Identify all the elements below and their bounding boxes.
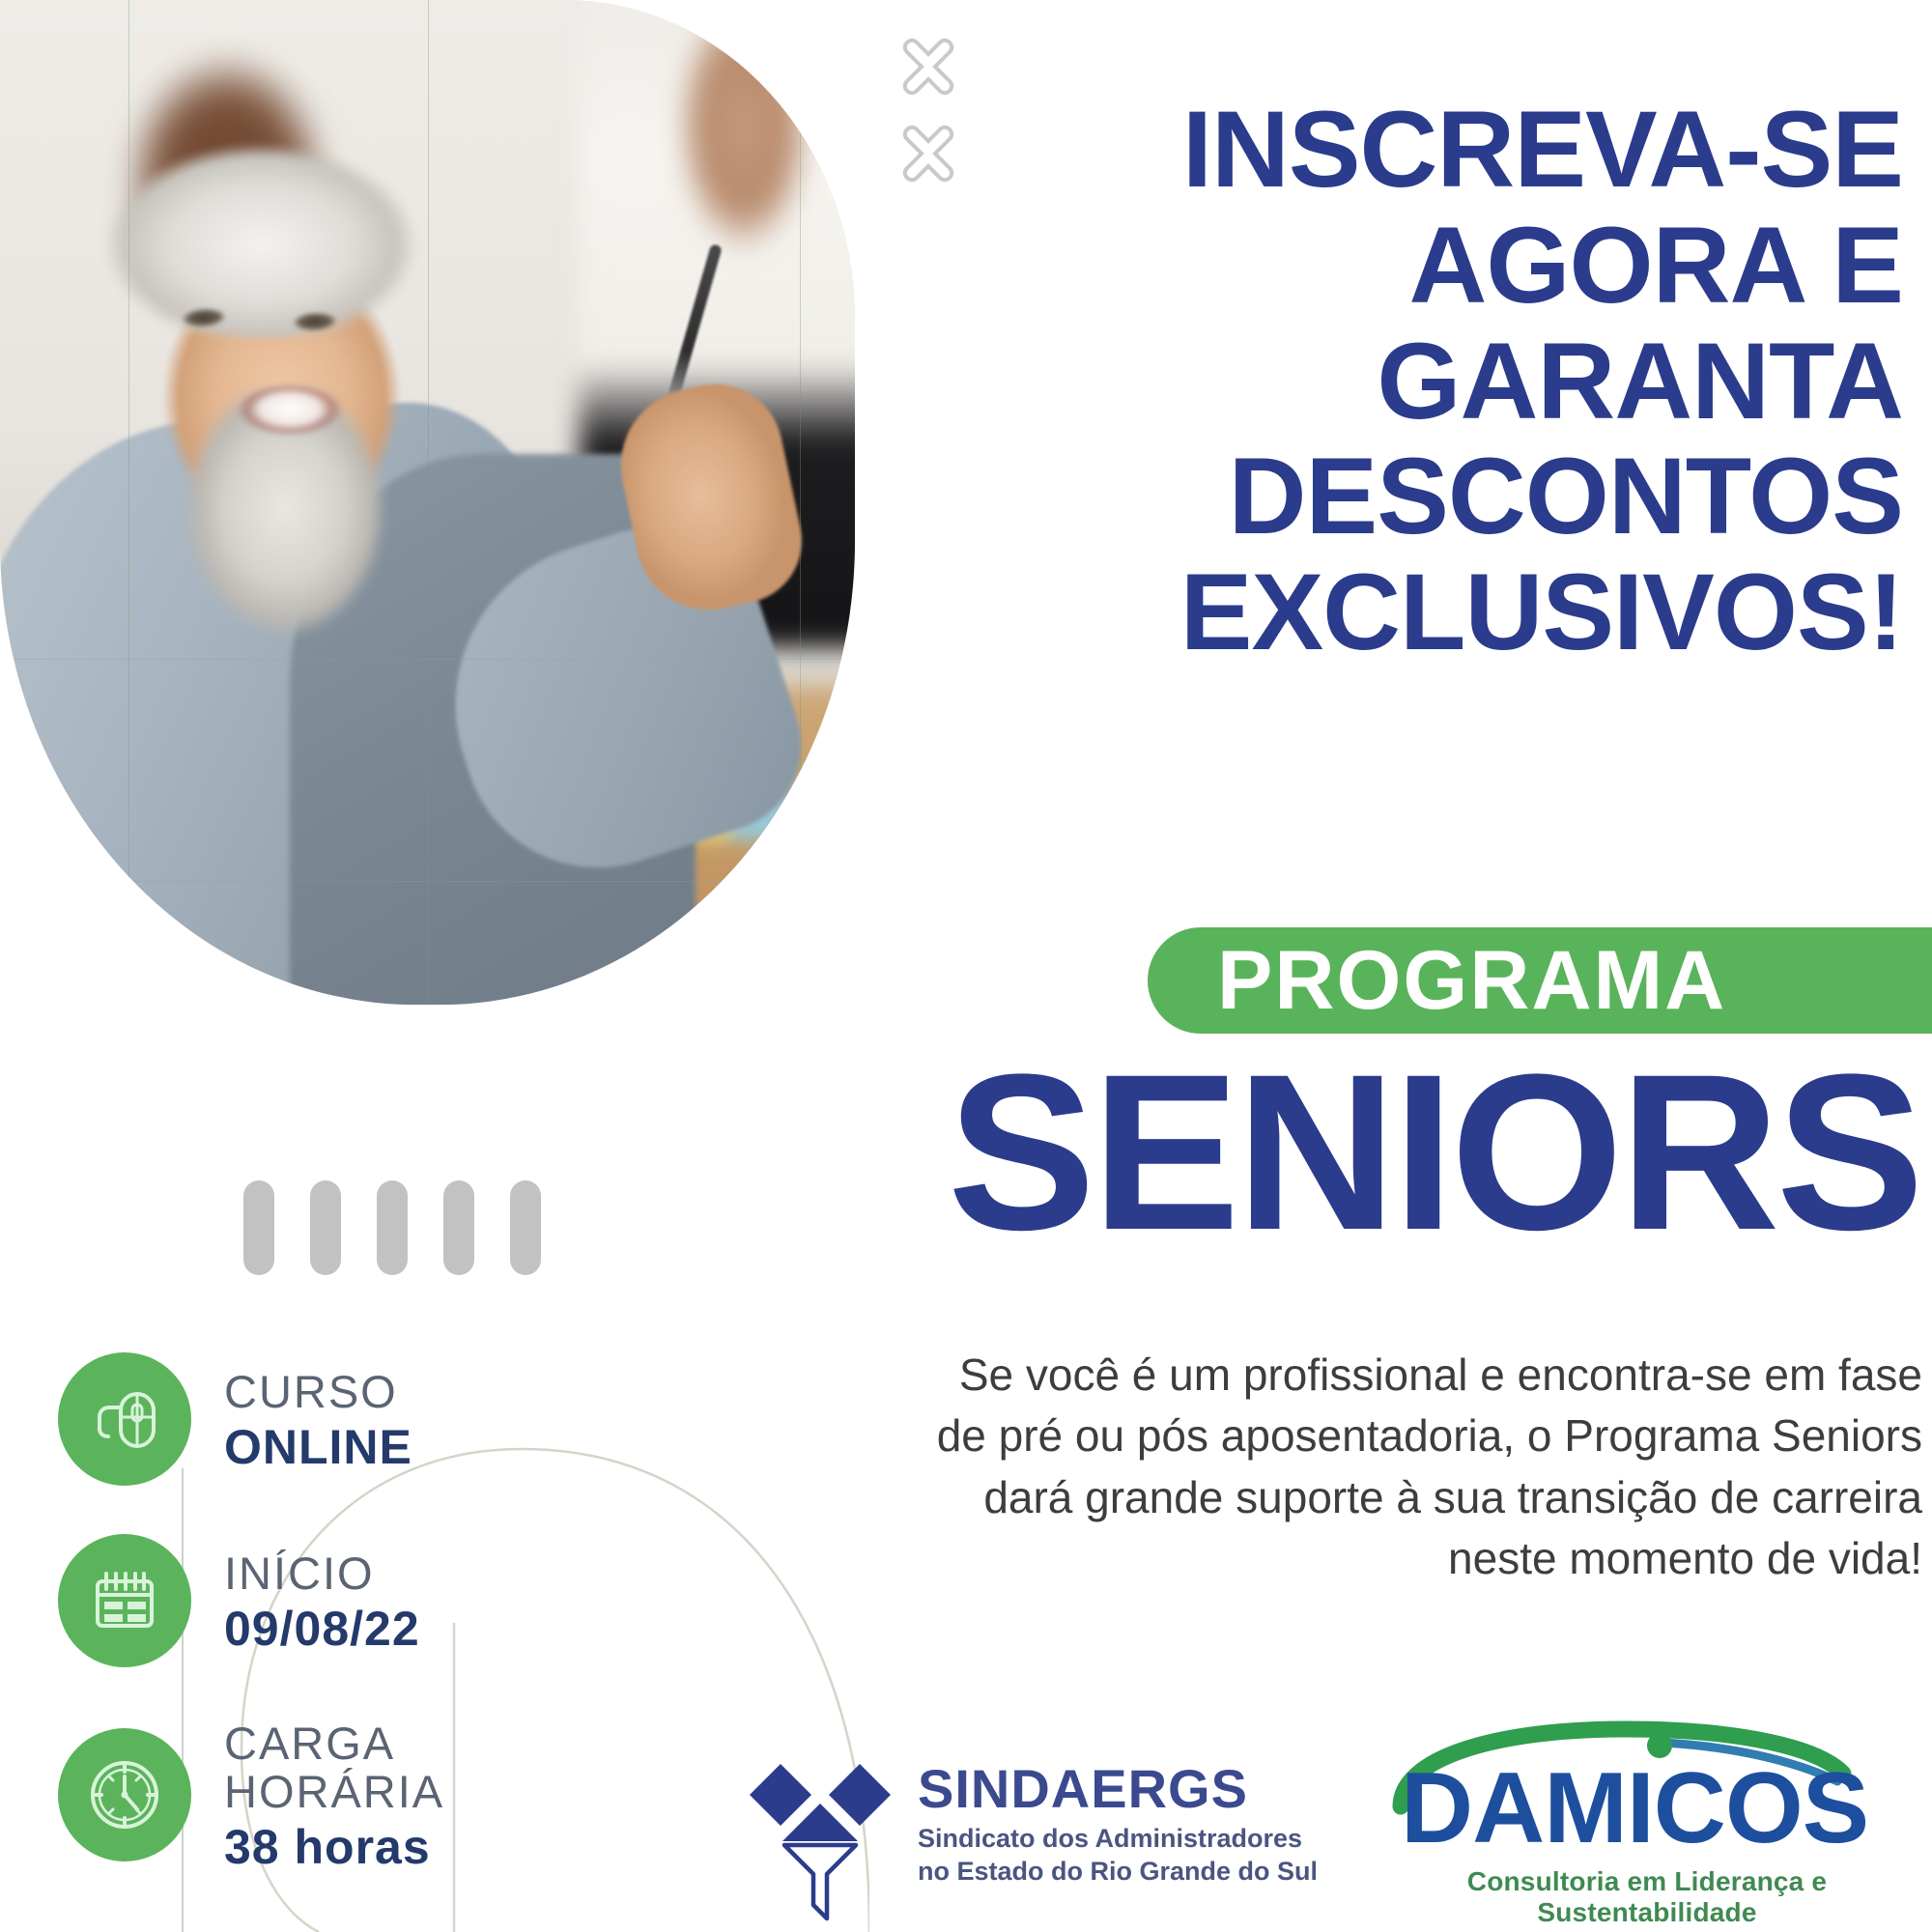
photo-man-hair: [101, 116, 420, 338]
bar-decoration-item: [510, 1180, 541, 1275]
info-value: 38 horas: [224, 1820, 599, 1874]
info-text-curso: CURSO ONLINE: [224, 1364, 412, 1474]
program-banner: PROGRAMA: [1148, 927, 1932, 1034]
info-text-inicio: INÍCIO 09/08/22: [224, 1546, 420, 1656]
sindaergs-diamond-logo-icon: [744, 1758, 896, 1924]
info-value: ONLINE: [224, 1420, 412, 1474]
calendar-icon: [58, 1534, 191, 1667]
bar-decoration-item: [310, 1180, 341, 1275]
poster-canvas: INSCREVA-SE AGORA E GARANTA DESCONTOS EX…: [0, 0, 1932, 1932]
info-item-curso: CURSO ONLINE: [58, 1352, 599, 1486]
mouse-icon: [58, 1352, 191, 1486]
photo-guide-line: [128, 0, 129, 1005]
sindaergs-tagline: Sindicato dos Administradores no Estado …: [918, 1823, 1318, 1889]
bar-decoration-item: [377, 1180, 408, 1275]
info-value: 09/08/22: [224, 1602, 420, 1656]
cross-icon: [898, 37, 958, 97]
course-info-list: CURSO ONLINE INÍCIO 09/08/22: [58, 1352, 599, 1922]
sindaergs-tagline-line-2: no Estado do Rio Grande do Sul: [918, 1856, 1318, 1889]
bar-decoration-item: [443, 1180, 474, 1275]
sindaergs-wordmark: SINDAERGS Sindicato dos Administradores …: [918, 1758, 1318, 1889]
sindaergs-logo: SINDAERGS Sindicato dos Administradores …: [744, 1758, 1318, 1924]
program-banner-label: PROGRAMA: [1217, 939, 1726, 1022]
sindaergs-brand: SINDAERGS: [918, 1762, 1318, 1816]
program-description: Se você é um profissional e encontra-se …: [898, 1345, 1922, 1590]
damicos-logo: DAMICOS Consultoria em Liderança e Suste…: [1401, 1718, 1913, 1928]
sindaergs-tagline-line-1: Sindicato dos Administradores: [918, 1823, 1318, 1856]
info-label: INÍCIO: [224, 1549, 420, 1598]
info-label: CARGA HORÁRIA: [224, 1719, 599, 1816]
photo-man-mouth: [237, 386, 343, 440]
photo-guide-line: [0, 659, 855, 660]
cross-icon: [898, 124, 958, 184]
hero-photo: [0, 0, 855, 1005]
info-label: CURSO: [224, 1368, 412, 1416]
photo-guide-line: [800, 0, 801, 1005]
photo-guide-line: [428, 0, 429, 1005]
clock-icon: [58, 1728, 191, 1861]
damicos-tagline: Consultoria em Liderança e Sustentabilid…: [1401, 1866, 1893, 1928]
info-item-inicio: INÍCIO 09/08/22: [58, 1534, 599, 1667]
photo-guide-line: [0, 881, 855, 882]
info-item-carga-horaria: CARGA HORÁRIA 38 horas: [58, 1716, 599, 1874]
info-text-carga-horaria: CARGA HORÁRIA 38 horas: [224, 1716, 599, 1874]
program-title: SENIORS: [715, 1041, 1932, 1264]
page-title: INSCREVA-SE AGORA E GARANTA DESCONTOS EX…: [976, 92, 1903, 670]
bar-decoration-item: [243, 1180, 274, 1275]
bars-decoration: [243, 1180, 541, 1275]
photo-image: [0, 0, 855, 1005]
damicos-brand: DAMICOS: [1401, 1758, 1913, 1859]
